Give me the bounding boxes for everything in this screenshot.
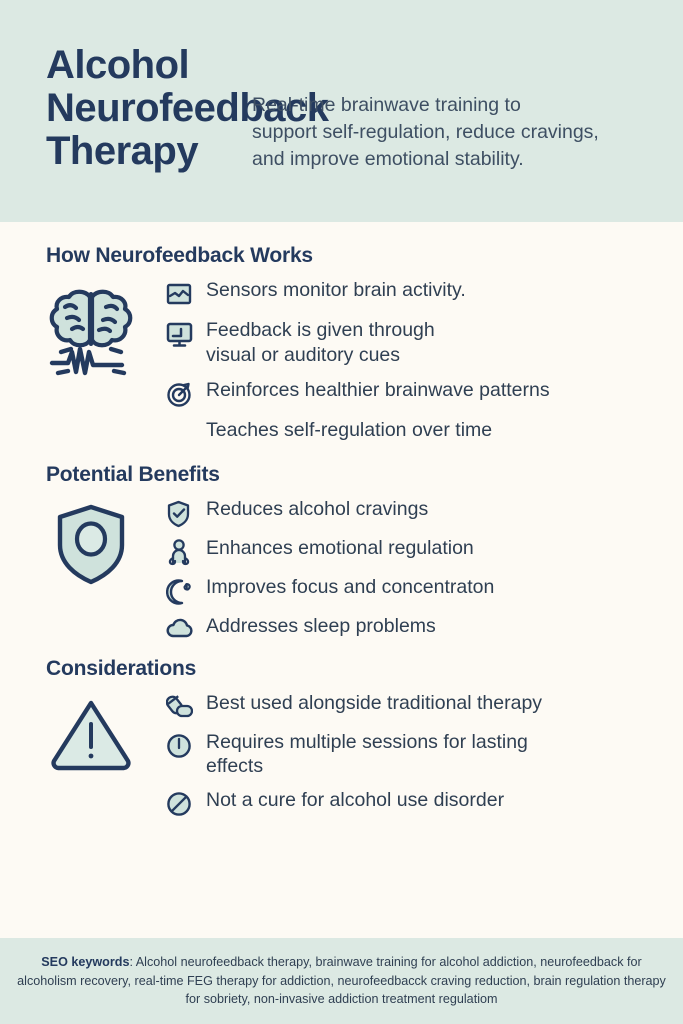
brain-waves-icon xyxy=(16,276,166,380)
section-title: How Neurofeedback Works xyxy=(46,244,667,268)
section-items: Best used alongside traditional therapy … xyxy=(166,689,667,828)
cloud-icon xyxy=(166,614,206,639)
list-item: Reduces alcohol cravings xyxy=(166,497,667,528)
page-title: Alcohol Neurofeedback Therapy xyxy=(46,44,236,174)
list-item: Teaches self-regulation over time xyxy=(166,418,667,448)
list-item: Not a cure for alcohol use disorder xyxy=(166,788,667,818)
list-item-label: Best used alongside traditional therapy xyxy=(206,691,542,716)
section-potential-benefits: Potential Benefits xyxy=(16,463,667,652)
page-title-line2: Therapy xyxy=(46,130,236,173)
section-items: Sensors monitor brain activity. xyxy=(166,276,667,458)
section-title: Potential Benefits xyxy=(46,463,667,487)
list-item-label: Not a cure for alcohol use disorder xyxy=(206,788,504,813)
section-how-neurofeedback-works: How Neurofeedback Works xyxy=(16,244,667,458)
list-item: Sensors monitor brain activity. xyxy=(166,278,667,308)
list-item-label: Sensors monitor brain activity. xyxy=(206,278,466,303)
list-item-label-line2: effects xyxy=(206,755,263,777)
shield-circle-icon xyxy=(16,495,166,587)
display-monitor-icon xyxy=(166,318,206,348)
meditating-person-icon xyxy=(166,536,206,567)
section-considerations: Considerations xyxy=(16,657,667,828)
list-item-label: Teaches self-regulation over time xyxy=(206,418,492,443)
list-item: Improves focus and concentraton xyxy=(166,575,667,606)
monitor-chart-icon xyxy=(166,278,206,307)
list-item-label: Enhances emotional regulation xyxy=(206,536,474,561)
pills-icon xyxy=(166,691,206,720)
list-item-label: Requires multiple sessions for lasting e… xyxy=(206,730,528,780)
footer-band: SEO keywords: Alcohol neurofeedback ther… xyxy=(0,938,683,1024)
seo-keywords: SEO keywords: Alcohol neurofeedback ther… xyxy=(14,953,669,1009)
page-subtitle-line3: and improve emotional stability. xyxy=(238,146,645,173)
seo-keywords-label: SEO keywords xyxy=(41,955,129,969)
list-item: Feedback is given through visual or audi… xyxy=(166,318,667,368)
list-item: Addresses sleep problems xyxy=(166,614,667,644)
list-item-label: Reduces alcohol cravings xyxy=(206,497,428,522)
section-items: Reduces alcohol cravings Enhances emotio… xyxy=(166,495,667,652)
warning-triangle-icon xyxy=(16,689,166,771)
list-item-label: Improves focus and concentraton xyxy=(206,575,494,600)
page-subtitle-line2: support self-regulation, reduce cravings… xyxy=(238,119,645,146)
moon-leaf-icon xyxy=(166,575,206,606)
section-title: Considerations xyxy=(46,657,667,681)
list-item: Best used alongside traditional therapy xyxy=(166,691,667,721)
list-item-label-line1: Feedback is given through xyxy=(206,319,435,341)
clock-icon xyxy=(166,730,206,759)
list-item-label: Reinforces healthier brainwave patterns xyxy=(206,378,550,403)
page-subtitle: Real-time brainwave training to support … xyxy=(238,44,645,173)
list-item-label-line1: Requires multiple sessions for lasting xyxy=(206,731,528,753)
list-item: Requires multiple sessions for lasting e… xyxy=(166,730,667,780)
infographic-page: Alcohol Neurofeedback Therapy Real-time … xyxy=(0,0,683,1024)
header-band: Alcohol Neurofeedback Therapy Real-time … xyxy=(0,0,683,222)
page-subtitle-line1: Real-time brainwave training to xyxy=(238,92,645,119)
content-area: How Neurofeedback Works xyxy=(0,222,683,938)
list-item: Reinforces healthier brainwave patterns xyxy=(166,378,667,408)
list-item: Enhances emotional regulation xyxy=(166,536,667,567)
list-item-label: Feedback is given through visual or audi… xyxy=(206,318,435,368)
list-item-label: Addresses sleep problems xyxy=(206,614,436,639)
list-item-label-line2: visual or auditory cues xyxy=(206,344,400,366)
prohibited-icon xyxy=(166,788,206,817)
shield-check-icon xyxy=(166,497,206,528)
target-arrow-icon xyxy=(166,378,206,408)
